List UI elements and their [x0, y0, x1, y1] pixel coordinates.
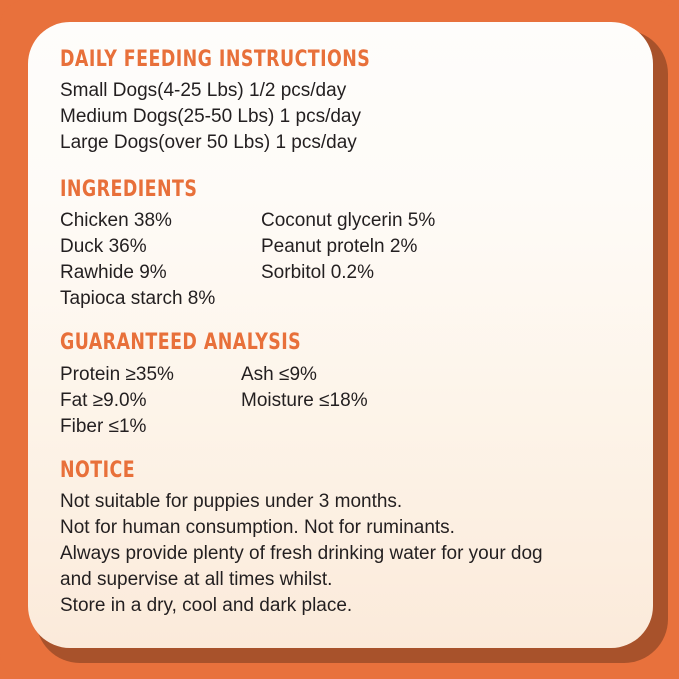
analysis-heading: GUARANTEED ANALYSIS — [60, 331, 564, 355]
feeding-line: Large Dogs(over 50 Lbs) 1 pcs/day — [60, 130, 633, 156]
analysis-value: Ash ≤9% — [241, 362, 317, 388]
notice-line: Always provide plenty of fresh drinking … — [60, 541, 633, 567]
analysis-row: Protein ≥35% Ash ≤9% — [60, 362, 633, 388]
analysis-row: Fiber ≤1% — [60, 414, 633, 440]
analysis-value: Fat ≥9.0% — [60, 388, 146, 414]
spacer — [60, 156, 633, 178]
ingredients-columns: Chicken 38% Coconut glycerin 5% Duck 36%… — [60, 208, 633, 312]
ingredient-name: Duck 36% — [60, 234, 147, 260]
label-panel: DAILY FEEDING INSTRUCTIONS Small Dogs(4-… — [0, 0, 679, 679]
ingredients-row: Chicken 38% Coconut glycerin 5% — [60, 208, 633, 234]
section-guaranteed-analysis: GUARANTEED ANALYSIS Protein ≥35% Ash ≤9%… — [60, 331, 633, 439]
section-ingredients: INGREDIENTS Chicken 38% Coconut glycerin… — [60, 178, 633, 312]
analysis-columns: Protein ≥35% Ash ≤9% Fat ≥9.0% Moisture … — [60, 362, 633, 440]
feeding-heading: DAILY FEEDING INSTRUCTIONS — [60, 48, 564, 72]
notice-line: Store in a dry, cool and dark place. — [60, 593, 633, 619]
ingredient-name: Coconut glycerin 5% — [261, 208, 435, 234]
ingredient-name: Peanut proteln 2% — [261, 234, 417, 260]
ingredients-row: Rawhide 9% Sorbitol 0.2% — [60, 260, 633, 286]
ingredients-row: Duck 36% Peanut proteln 2% — [60, 234, 633, 260]
ingredients-heading: INGREDIENTS — [60, 178, 564, 202]
card-content: DAILY FEEDING INSTRUCTIONS Small Dogs(4-… — [60, 48, 633, 619]
section-feeding-instructions: DAILY FEEDING INSTRUCTIONS Small Dogs(4-… — [60, 48, 633, 156]
notice-line: Not for human consumption. Not for rumin… — [60, 515, 633, 541]
ingredient-name: Sorbitol 0.2% — [261, 260, 374, 286]
notice-heading: NOTICE — [60, 459, 564, 483]
feeding-line: Medium Dogs(25-50 Lbs) 1 pcs/day — [60, 104, 633, 130]
notice-line: and supervise at all times whilst. — [60, 567, 633, 593]
analysis-row: Fat ≥9.0% Moisture ≤18% — [60, 388, 633, 414]
ingredient-name: Chicken 38% — [60, 208, 172, 234]
info-card: DAILY FEEDING INSTRUCTIONS Small Dogs(4-… — [28, 22, 653, 648]
analysis-value: Protein ≥35% — [60, 362, 174, 388]
analysis-value: Moisture ≤18% — [241, 388, 368, 414]
feeding-line: Small Dogs(4-25 Lbs) 1/2 pcs/day — [60, 78, 633, 104]
notice-line: Not suitable for puppies under 3 months. — [60, 489, 633, 515]
spacer — [60, 312, 633, 331]
spacer — [60, 440, 633, 459]
ingredient-name: Tapioca starch 8% — [60, 286, 215, 312]
analysis-value: Fiber ≤1% — [60, 414, 146, 440]
ingredient-name: Rawhide 9% — [60, 260, 167, 286]
ingredients-row: Tapioca starch 8% — [60, 286, 633, 312]
section-notice: NOTICE Not suitable for puppies under 3 … — [60, 459, 633, 619]
